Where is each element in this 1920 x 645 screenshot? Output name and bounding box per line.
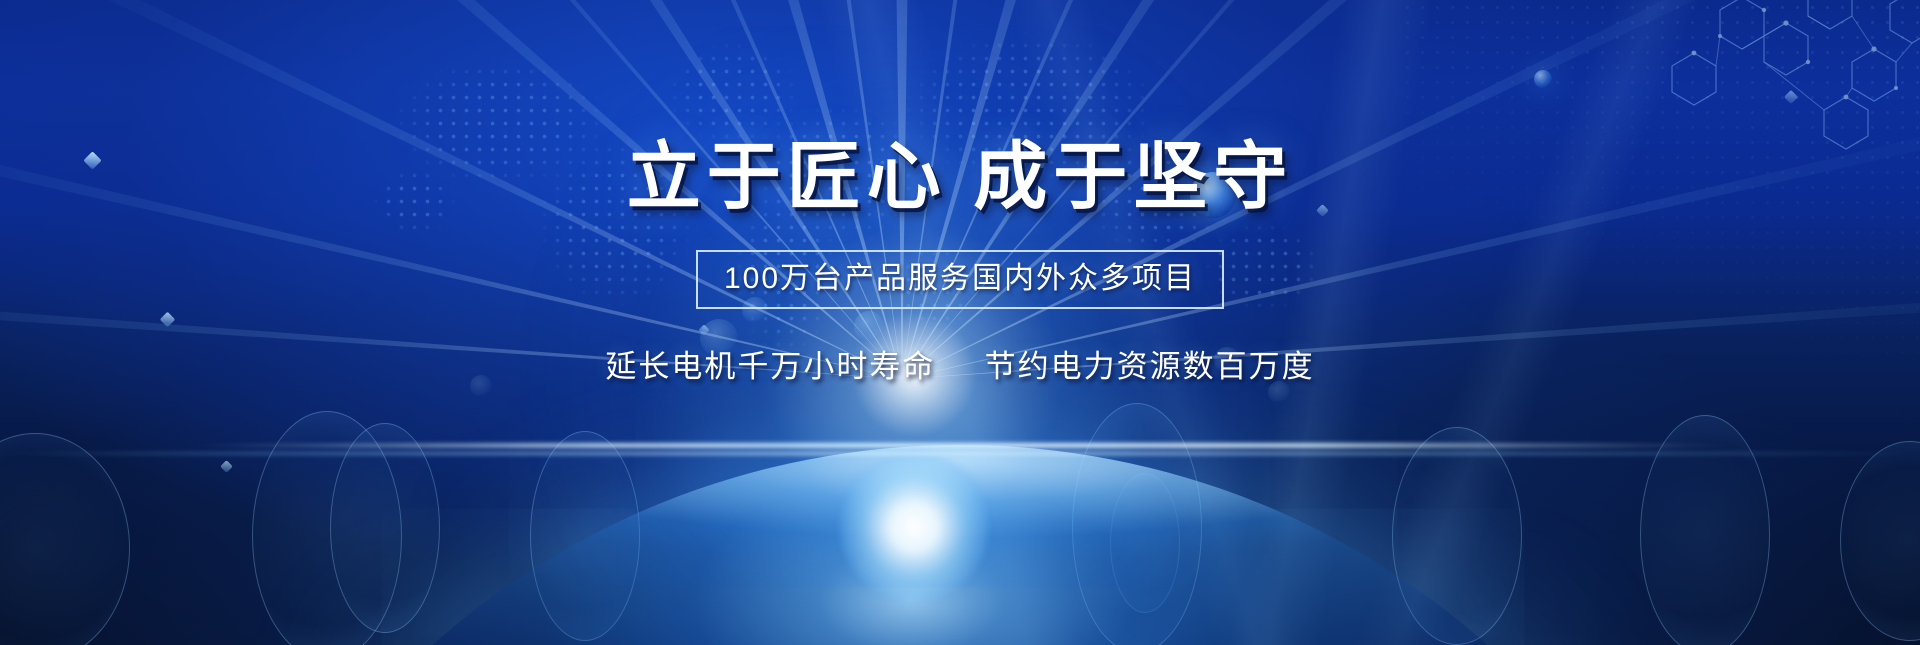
hero-banner: 立于匠心 成于坚守 100万台产品服务国内外众多项目 延长电机千万小时寿命 节约… [0,0,1920,645]
banner-subtitle: 100万台产品服务国内外众多项目 [724,262,1196,295]
banner-tagline: 延长电机千万小时寿命 节约电力资源数百万度 [605,341,1314,386]
tagline-part-2: 节约电力资源数百万度 [985,349,1315,384]
subtitle-box: 100万台产品服务国内外众多项目 [696,250,1224,309]
banner-content: 立于匠心 成于坚守 100万台产品服务国内外众多项目 延长电机千万小时寿命 节约… [0,0,1920,645]
tagline-part-1: 延长电机千万小时寿命 [605,349,935,384]
banner-headline: 立于匠心 成于坚守 [627,140,1294,214]
